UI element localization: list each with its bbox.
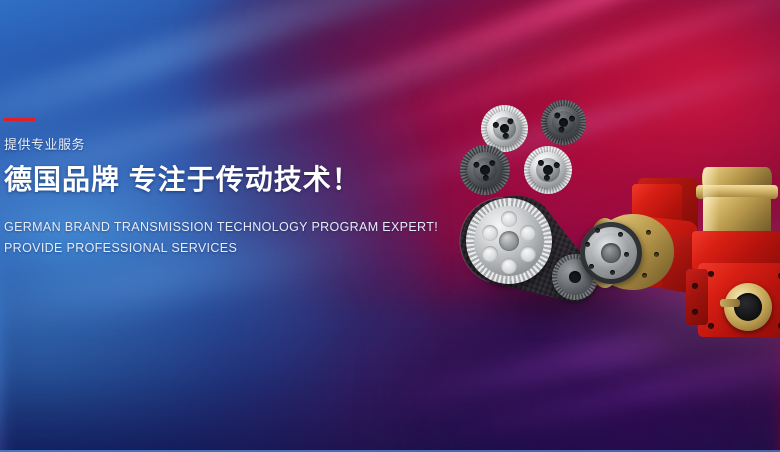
banner-subtitle-line1: GERMAN BRAND TRANSMISSION TECHNOLOGY PRO… bbox=[4, 217, 434, 239]
banner-copy: 提供专业服务 德国品牌 专注于传动技术！ GERMAN BRAND TRANSM… bbox=[4, 118, 434, 260]
background-crimson-glow-2 bbox=[440, 0, 780, 260]
hero-banner: 提供专业服务 德国品牌 专注于传动技术！ GERMAN BRAND TRANSM… bbox=[0, 0, 780, 452]
banner-kicker: 提供专业服务 bbox=[4, 138, 434, 151]
accent-rule bbox=[4, 118, 35, 121]
banner-headline: 德国品牌 专注于传动技术！ bbox=[4, 165, 434, 196]
background-bottom-right-shade bbox=[380, 252, 780, 452]
banner-subtitle-line2: PROVIDE PROFESSIONAL SERVICES bbox=[4, 238, 434, 260]
